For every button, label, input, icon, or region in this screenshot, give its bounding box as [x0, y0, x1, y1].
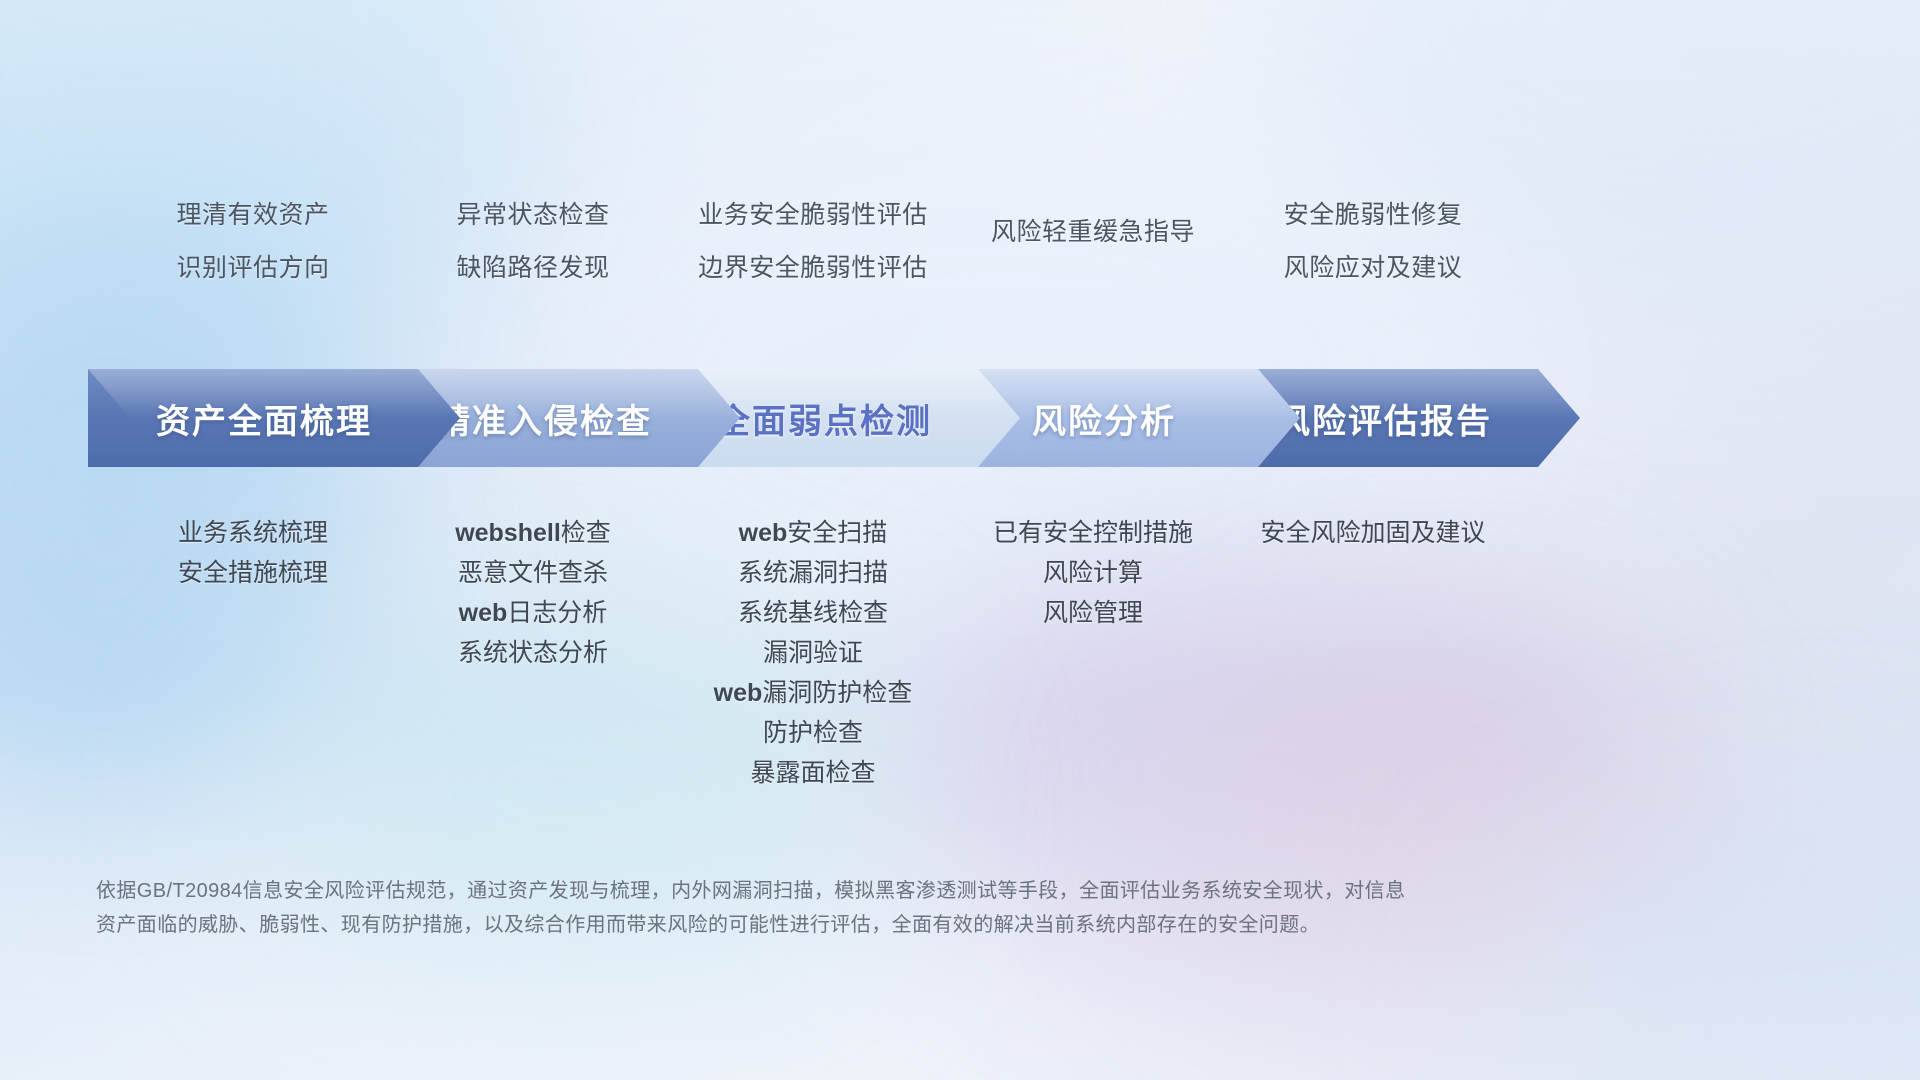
top-caption-text: 识别评估方向 — [176, 248, 329, 284]
detail-item-text: 漏洞防护检查 — [762, 679, 912, 707]
detail-list-item: 已有安全控制措施 — [993, 513, 1193, 553]
detail-list-item: 防护检查 — [763, 713, 863, 753]
top-caption-text: 缺陷路径发现 — [456, 248, 609, 284]
detail-list-item: 暴露面检查 — [750, 753, 875, 793]
detail-list-5: 安全风险加固及建议 — [1208, 513, 1538, 553]
detail-list-item: webshell检查 — [455, 513, 611, 553]
top-caption-text: 风险应对及建议 — [1284, 248, 1463, 284]
stage-label: 资产全面梳理 — [88, 394, 460, 443]
detail-list-item: 风险计算 — [1043, 553, 1143, 593]
detail-list-item: 系统基线检查 — [738, 593, 888, 633]
top-caption-text: 安全脆弱性修复 — [1284, 195, 1463, 231]
detail-list-item: web日志分析 — [459, 593, 608, 633]
detail-list-item: 恶意文件查杀 — [458, 553, 608, 593]
detail-item-bold-prefix: web — [739, 519, 788, 547]
detail-list-item: 风险管理 — [1043, 593, 1143, 633]
footer-line-2: 资产面临的威胁、脆弱性、现有防护措施，以及综合作用而带来风险的可能性进行评估，全… — [96, 908, 1656, 942]
detail-list-item: 漏洞验证 — [763, 633, 863, 673]
top-caption-group-5: 安全脆弱性修复风险应对及建议 — [1208, 195, 1538, 284]
footer-line-1: 依据GB/T20984信息安全风险评估规范，通过资产发现与梳理，内外网漏洞扫描，… — [96, 874, 1656, 908]
infographic: 理清有效资产识别评估方向异常状态检查缺陷路径发现业务安全脆弱性评估边界安全脆弱性… — [0, 0, 1920, 1080]
detail-item-text: 检查 — [561, 519, 611, 547]
footer-description: 依据GB/T20984信息安全风险评估规范，通过资产发现与梳理，内外网漏洞扫描，… — [96, 874, 1656, 942]
detail-item-text: 日志分析 — [507, 599, 607, 627]
detail-item-bold-prefix: webshell — [455, 519, 561, 547]
detail-list-item: web漏洞防护检查 — [714, 673, 913, 713]
detail-list-item: 系统状态分析 — [458, 633, 608, 673]
detail-list-item: web安全扫描 — [739, 513, 888, 553]
process-stage-1[interactable]: 资产全面梳理 — [88, 369, 460, 467]
top-caption-text: 边界安全脆弱性评估 — [698, 248, 928, 284]
top-caption-text: 理清有效资产 — [176, 195, 329, 231]
top-caption-text: 风险轻重缓急指导 — [991, 212, 1195, 248]
detail-item-bold-prefix: web — [459, 599, 508, 627]
detail-list-item: 安全风险加固及建议 — [1260, 513, 1485, 553]
detail-list-item: 业务系统梳理 — [178, 513, 328, 553]
detail-item-bold-prefix: web — [714, 679, 763, 707]
detail-item-text: 安全扫描 — [787, 519, 887, 547]
top-caption-text: 异常状态检查 — [456, 195, 609, 231]
detail-list-item: 安全措施梳理 — [178, 553, 328, 593]
detail-list-item: 系统漏洞扫描 — [738, 553, 888, 593]
top-caption-text: 业务安全脆弱性评估 — [698, 195, 928, 231]
process-chevron-band: 资产全面梳理精准入侵检查全面弱点检测风险分析风险评估报告 — [88, 369, 1834, 467]
